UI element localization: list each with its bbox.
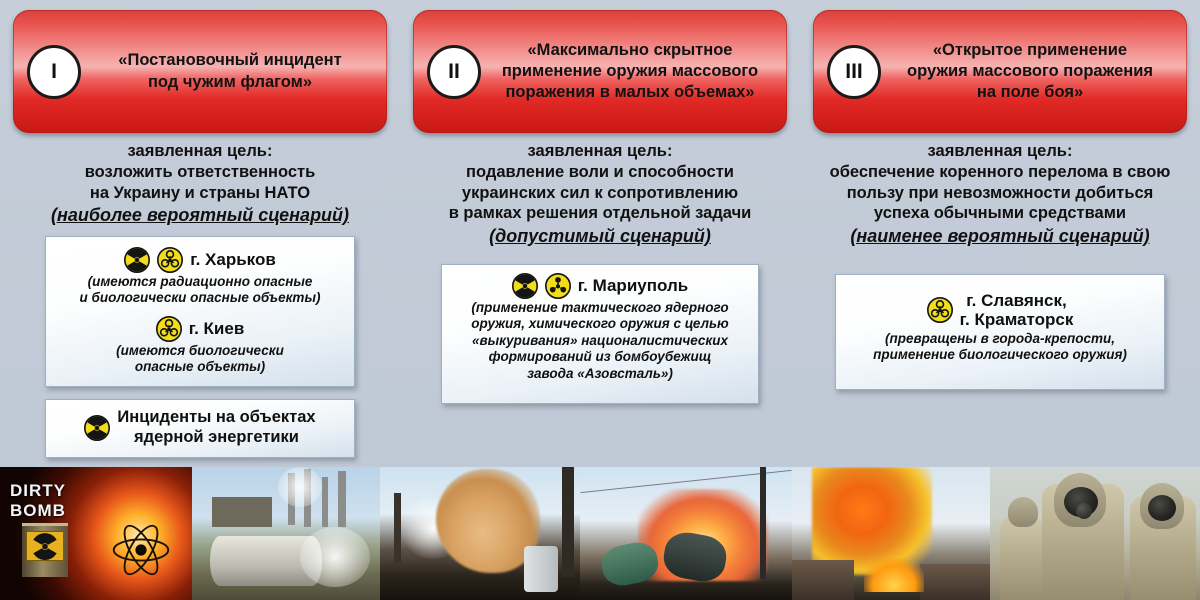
scenario-likelihood-3: (наименее вероятный сценарий)	[800, 226, 1200, 248]
scenario-title-3: «Открытое применение оружия массового по…	[887, 40, 1177, 103]
scenario-column-1: I «Постановочный инцидент под чужим флаг…	[0, 0, 400, 467]
photo-strip: DIRTY BOMB	[0, 467, 1200, 600]
goal-label-2: заявленная цель:	[400, 141, 800, 162]
scenario-panels-3: г. Славянск, г. Краматорск (превращены в…	[800, 248, 1200, 390]
scenario-likelihood-1: (наиболее вероятный сценарий)	[0, 205, 400, 227]
pole-shape	[562, 467, 574, 577]
tank-shape	[524, 546, 558, 592]
radiation-icon	[124, 247, 150, 273]
biohazard-icon	[157, 247, 183, 273]
scenario-panels-2: г. Мариуполь (применение тактического яд…	[400, 248, 800, 404]
goal-label-3: заявленная цель:	[800, 141, 1200, 162]
soldier-shape	[1000, 516, 1044, 600]
panel-city-note: (имеются биологически опасные объекты)	[56, 343, 344, 376]
scenario-banner-1: I «Постановочный инцидент под чужим флаг…	[13, 10, 387, 133]
atom-icon	[110, 519, 172, 581]
panel-city-note: (применение тактического ядерного оружия…	[452, 300, 748, 382]
goal-label-1: заявленная цель:	[0, 141, 400, 162]
radiation-label-shape	[26, 531, 64, 561]
scenario-title-1: «Постановочный инцидент под чужим флагом…	[87, 50, 377, 92]
scenario-title-2: «Максимально скрытное применение оружия …	[487, 40, 777, 103]
panel-city-name: г. Мариуполь	[578, 276, 688, 296]
panel-city-note: (имеются радиационно опасные и биологиче…	[56, 274, 344, 307]
scenario-banner-3: III «Открытое применение оружия массовог…	[813, 10, 1187, 133]
chemical-weapon-icon	[545, 273, 571, 299]
goal-body-1: возложить ответственность на Украину и с…	[0, 162, 400, 204]
radiation-icon	[512, 273, 538, 299]
panel-city-note: (превращены в города-крепости, применени…	[846, 331, 1154, 364]
scenario-goal-1: заявленная цель: возложить ответственнос…	[0, 141, 400, 227]
building-shape	[920, 564, 990, 600]
stack-shape	[338, 471, 346, 527]
scenario-columns: I «Постановочный инцидент под чужим флаг…	[0, 0, 1200, 467]
goal-body-2: подавление воли и способности украинских…	[400, 162, 800, 224]
scenario-goal-2: заявленная цель: подавление воли и спосо…	[400, 141, 800, 248]
info-panel-nuclear-incidents: Инциденты на объектах ядерной энергетики	[45, 399, 355, 459]
soldiers-gas-masks-photo	[990, 467, 1200, 600]
chemical-plant-tank-leak-photo	[192, 467, 380, 600]
scenario-numeral-3: III	[827, 45, 881, 99]
dirty-bomb-photo: DIRTY BOMB	[0, 467, 192, 600]
catenary-mast-shape	[760, 467, 766, 579]
scenario-goal-3: заявленная цель: обеспечение коренного п…	[800, 141, 1200, 248]
smoke-shape	[300, 527, 370, 587]
panel-entry-header: г. Мариуполь	[452, 273, 748, 299]
info-panel-cities-3: г. Славянск, г. Краматорск (превращены в…	[835, 274, 1165, 390]
scenario-column-3: III «Открытое применение оружия массовог…	[800, 0, 1200, 467]
radiation-icon	[84, 415, 110, 441]
industrial-brown-plume-photo	[380, 467, 580, 600]
scenario-banner-2: II «Максимально скрытное применение оруж…	[413, 10, 787, 133]
orange-toxic-cloud-town-photo	[792, 467, 990, 600]
goal-body-3: обеспечение коренного перелома в свою по…	[800, 162, 1200, 224]
info-panel-cities-1: г. Харьков (имеются радиационно опасные …	[45, 236, 355, 387]
filter-canister-shape	[1076, 503, 1092, 519]
infographic-page: I «Постановочный инцидент под чужим флаг…	[0, 0, 1200, 600]
building-shape	[792, 560, 854, 600]
panel-entry-header: г. Киев	[56, 316, 344, 342]
panel-entry-header: Инциденты на объектах ядерной энергетики	[84, 408, 315, 448]
hood-shape	[1008, 497, 1038, 527]
info-panel-cities-2: г. Мариуполь (применение тактического яд…	[441, 264, 759, 404]
scenario-numeral-2: II	[427, 45, 481, 99]
scenario-numeral-1: I	[27, 45, 81, 99]
panel-city-name: г. Славянск, г. Краматорск	[960, 291, 1074, 330]
fire-shape	[864, 558, 924, 592]
smoke-shape	[278, 467, 322, 507]
derailed-tankers-fire-photo	[580, 467, 792, 600]
stack-shape	[322, 477, 328, 527]
scenario-panels-1: г. Харьков (имеются радиационно опасные …	[0, 227, 400, 458]
panel-entry-header: г. Славянск, г. Краматорск	[846, 291, 1154, 330]
dirty-bomb-caption: DIRTY BOMB	[10, 481, 66, 520]
panel-city-name: г. Харьков	[190, 250, 276, 270]
gas-mask-icon	[1148, 495, 1176, 521]
panel-entry-header: г. Харьков	[56, 247, 344, 273]
panel-text: Инциденты на объектах ядерной энергетики	[117, 408, 315, 448]
panel-city-name: г. Киев	[189, 319, 245, 339]
scenario-likelihood-2: (допустимый сценарий)	[400, 226, 800, 248]
building-shape	[212, 497, 272, 527]
biohazard-icon	[927, 297, 953, 323]
biohazard-icon	[156, 316, 182, 342]
scenario-column-2: II «Максимально скрытное применение оруж…	[400, 0, 800, 467]
radiation-icon	[27, 532, 63, 560]
